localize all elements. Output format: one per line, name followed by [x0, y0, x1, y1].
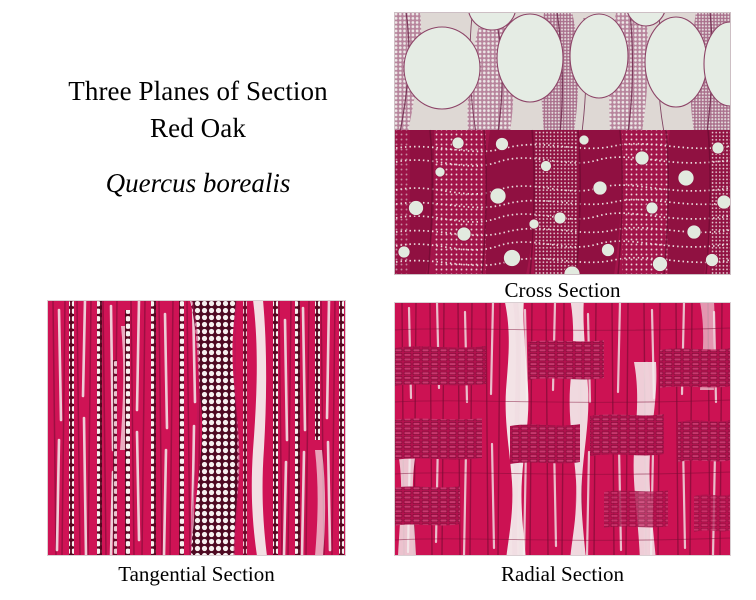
title-block: Three Planes of Section Red Oak Quercus … — [18, 74, 378, 201]
radial-section-image — [394, 302, 731, 556]
tangential-section-micrograph — [47, 300, 346, 556]
radial-section-caption: Radial Section — [394, 562, 731, 587]
cross-section-caption: Cross Section — [394, 278, 731, 303]
slide-title-line-1: Three Planes of Section — [18, 74, 378, 109]
slide-title-line-2: Red Oak — [18, 111, 378, 146]
species-name: Quercus borealis — [18, 166, 378, 201]
radial-section-micrograph — [394, 302, 731, 556]
cross-section-image — [394, 12, 731, 275]
cross-section-micrograph — [394, 12, 731, 275]
tangential-section-image — [47, 300, 346, 556]
tangential-section-caption: Tangential Section — [47, 562, 346, 587]
